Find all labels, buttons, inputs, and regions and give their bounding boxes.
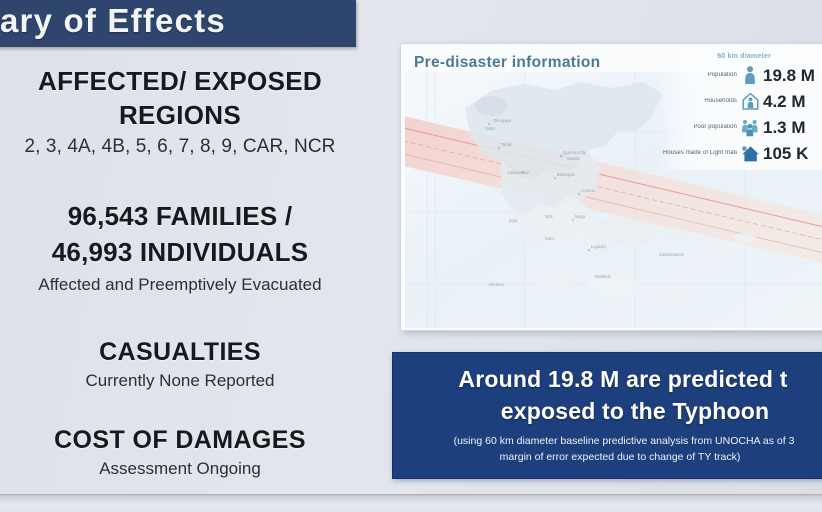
individuals-count: 46,993 INDIVIDUALS	[0, 234, 360, 270]
stat-label-households: Households	[704, 98, 737, 105]
map-card-title: Pre-disaster information	[414, 54, 600, 72]
stat-label-population: Population	[708, 72, 737, 79]
prediction-banner: Around 19.8 M are predicted t exposed to…	[392, 352, 822, 479]
svg-text:Catanduanes: Catanduanes	[659, 252, 684, 257]
families-individuals-block: 96,543 FAMILIES / 46,993 INDIVIDUALS Aff…	[0, 198, 360, 300]
stat-value-households: 4.2 M	[763, 92, 822, 111]
affected-regions-line1: AFFECTED/ EXPOSED	[0, 64, 360, 98]
svg-text:Naga: Naga	[575, 214, 586, 219]
page-title: ary of Effects	[0, 0, 356, 44]
svg-text:Masbate: Masbate	[595, 274, 612, 279]
casualties-block: CASUALTIES Currently None Reported	[0, 336, 360, 394]
pre-disaster-map-card: Pre-disaster information	[400, 43, 822, 331]
affected-regions-line2: REGIONS	[0, 98, 360, 132]
families-caption: Affected and Preemptively Evacuated	[0, 270, 360, 300]
svg-text:Batangas: Batangas	[557, 172, 575, 177]
people-group-icon	[740, 116, 760, 138]
stat-value-poor-population: 1.3 M	[763, 118, 822, 137]
casualties-heading: CASUALTIES	[0, 336, 360, 368]
svg-text:Mindoro: Mindoro	[489, 282, 505, 287]
prediction-note-line2: margin of error expected due to change o…	[393, 449, 822, 465]
slide-bottom-divider	[0, 494, 822, 512]
svg-text:Daet: Daet	[545, 236, 555, 241]
stat-strip-header: 60 km diameter	[661, 52, 822, 62]
svg-text:Subic: Subic	[485, 126, 495, 131]
svg-text:Legazpi: Legazpi	[591, 244, 606, 249]
slide-title-banner: ary of Effects	[0, 0, 356, 47]
svg-text:Lucena: Lucena	[581, 188, 595, 193]
cost-heading: COST OF DAMAGES	[0, 424, 360, 456]
person-icon	[740, 64, 760, 86]
stat-row-population: Population 19.8 M	[661, 62, 822, 88]
pre-disaster-stat-strip: 60 km diameter Population 19.8 M Househo…	[657, 50, 822, 170]
prediction-line2: exposed to the Typhoon	[393, 395, 822, 427]
left-summary-column: ary of Effects AFFECTED/ EXPOSED REGIONS…	[0, 0, 360, 494]
cost-of-damages-block: COST OF DAMAGES Assessment Ongoing	[0, 424, 360, 482]
prediction-line1: Around 19.8 M are predicted t	[393, 363, 822, 395]
svg-text:Olongapo: Olongapo	[493, 118, 512, 123]
house-person-icon	[740, 90, 760, 112]
stat-value-population: 19.8 M	[763, 66, 822, 85]
prediction-note-line1: (using 60 km diameter baseline predictiv…	[393, 433, 822, 449]
stat-row-poor-population: Poor population 1.3 M	[661, 114, 822, 140]
affected-regions-list: 2, 3, 4A, 4B, 5, 6, 7, 8, 9, CAR, NCR	[0, 132, 360, 162]
svg-text:Iriga: Iriga	[509, 218, 518, 223]
stat-label-poor-population: Poor population	[693, 124, 737, 131]
cost-status: Assessment Ongoing	[0, 456, 360, 482]
svg-text:Tarlac: Tarlac	[501, 142, 512, 147]
stat-row-households: Households 4.2 M	[661, 88, 822, 114]
slide-canvas: ary of Effects AFFECTED/ EXPOSED REGIONS…	[0, 0, 822, 512]
casualties-status: Currently None Reported	[0, 368, 360, 394]
stat-value-light-material-houses: 105 K	[763, 144, 822, 163]
svg-text:Cabanatuan: Cabanatuan	[507, 170, 530, 175]
svg-text:NGL: NGL	[545, 214, 554, 219]
svg-text:Quezon City: Quezon City	[563, 150, 587, 155]
svg-text:Manila: Manila	[567, 156, 580, 161]
affected-regions-block: AFFECTED/ EXPOSED REGIONS 2, 3, 4A, 4B, …	[0, 64, 360, 162]
stat-row-light-material-houses: Houses made of Light materials 105 K	[661, 140, 822, 166]
families-count: 96,543 FAMILIES /	[0, 198, 360, 234]
stat-label-light-material-houses: Houses made of Light materials	[663, 150, 737, 157]
house-icon	[740, 142, 760, 164]
